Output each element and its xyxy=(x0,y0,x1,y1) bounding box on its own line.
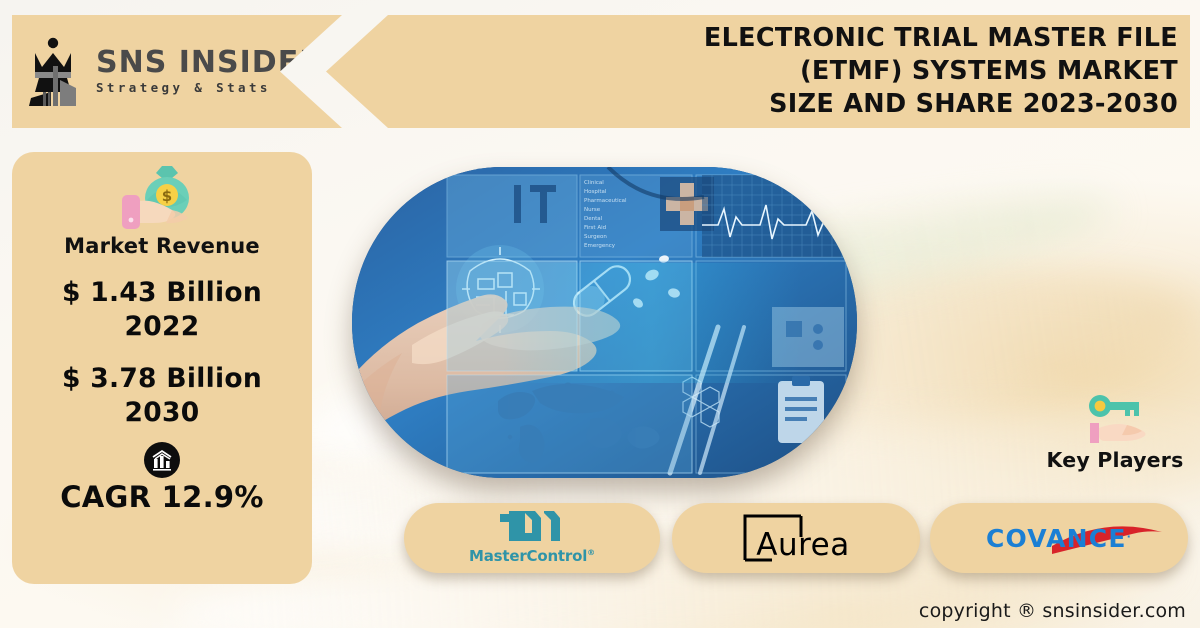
base-value: $ 1.43 Billion xyxy=(62,277,262,308)
logo-title: SNS INSIDER xyxy=(96,48,323,78)
mastercontrol-wordmark: MasterControl® xyxy=(469,547,595,565)
forecast-year-revenue: $ 3.78 Billion 2030 xyxy=(62,362,262,430)
market-revenue-label: Market Revenue xyxy=(64,234,260,258)
title-banner: ELECTRONIC TRIAL MASTER FILE (ETMF) SYST… xyxy=(326,15,1190,128)
svg-text:Pharmaceutical: Pharmaceutical xyxy=(584,198,627,204)
key-players-block: Key Players xyxy=(1035,392,1195,472)
svg-text:Emergency: Emergency xyxy=(584,243,616,249)
svg-text:Nurse: Nurse xyxy=(584,207,601,213)
forecast-value: $ 3.78 Billion xyxy=(62,363,262,394)
company-logo-covance[interactable]: COVANCE. xyxy=(930,503,1188,573)
market-revenue-panel: $ Market Revenue $ 1.43 Billion 2022 $ 3… xyxy=(12,152,312,584)
base-year-revenue: $ 1.43 Billion 2022 xyxy=(62,276,262,344)
infographic-canvas: SNS INSIDER Strategy & Stats ELECTRONIC … xyxy=(0,0,1200,628)
company-logo-mastercontrol[interactable]: MasterControl® xyxy=(404,503,660,573)
title-line-1: ELECTRONIC TRIAL MASTER FILE xyxy=(704,22,1178,55)
logo-tagline: Strategy & Stats xyxy=(96,82,323,95)
title-line-2: (ETMF) SYSTEMS MARKET xyxy=(704,55,1178,88)
svg-text:Surgeon: Surgeon xyxy=(584,234,607,240)
company-logo-aurea[interactable]: Aurea xyxy=(672,503,920,573)
page-title: ELECTRONIC TRIAL MASTER FILE (ETMF) SYST… xyxy=(704,22,1190,121)
hand-holding-key-icon xyxy=(1079,392,1151,446)
svg-text:$: $ xyxy=(162,187,172,205)
svg-text:Hospital: Hospital xyxy=(584,189,607,195)
key-players-label: Key Players xyxy=(1047,448,1184,472)
hand-holding-money-bag-icon: $ xyxy=(110,166,214,232)
hero-image: Clinical Hospital Pharmaceutical Nurse D… xyxy=(352,167,857,478)
copyright-text: copyright ® snsinsider.com xyxy=(919,600,1186,622)
svg-text:Clinical: Clinical xyxy=(584,180,604,186)
title-line-3: SIZE AND SHARE 2023-2030 xyxy=(704,88,1178,121)
cagr-value: CAGR 12.9% xyxy=(60,480,264,514)
svg-text:Dental: Dental xyxy=(584,216,603,222)
svg-text:First Aid: First Aid xyxy=(584,225,606,231)
aurea-square-icon xyxy=(742,513,804,563)
chess-king-crown-icon xyxy=(26,36,88,108)
base-year: 2022 xyxy=(62,310,262,344)
mastercontrol-m-icon xyxy=(500,511,564,546)
covance-wordmark: COVANCE. xyxy=(986,526,1132,551)
forecast-year: 2030 xyxy=(62,396,262,430)
bar-chart-trend-icon xyxy=(144,442,180,478)
brand-logo: SNS INSIDER Strategy & Stats xyxy=(12,36,323,108)
logo-banner: SNS INSIDER Strategy & Stats xyxy=(12,15,342,128)
